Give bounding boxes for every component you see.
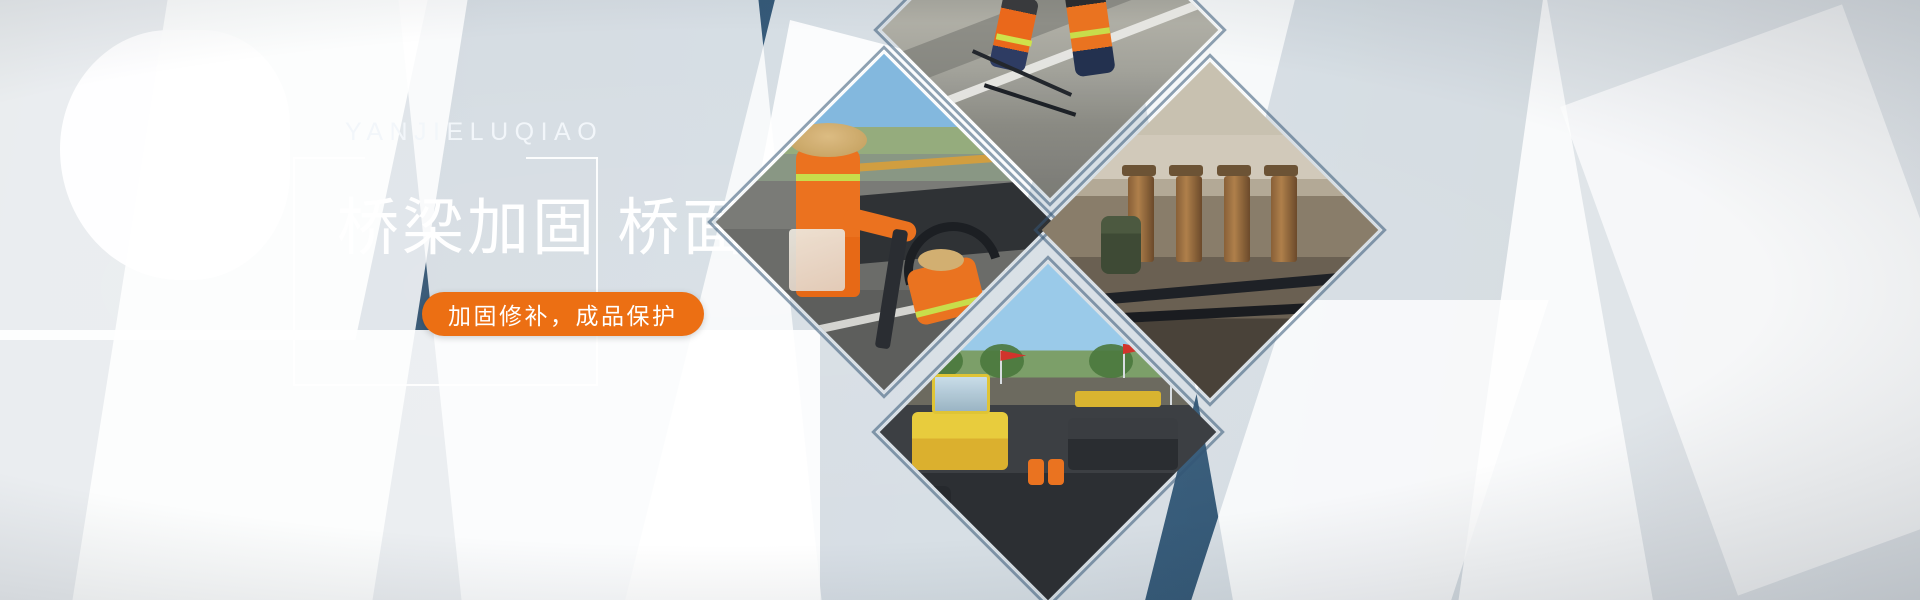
decorative-frame [293, 157, 598, 386]
frame-line-right [596, 157, 598, 386]
photo-collage [740, 0, 1360, 600]
status-badge: 加固修补，成品保护 [422, 292, 704, 336]
frame-line-left [293, 157, 295, 386]
promo-banner: YANJIELUQIAO 桥梁加固 桥面防水 加固修补，成品保护 [0, 0, 1920, 600]
frame-line-top-right [526, 157, 598, 159]
frame-line-bottom [293, 384, 598, 386]
frame-line-top-left [293, 157, 365, 159]
eyebrow-pinyin: YANJIELUQIAO [345, 120, 603, 145]
eyebrow-label: YANJIELUQIAO [345, 120, 603, 145]
